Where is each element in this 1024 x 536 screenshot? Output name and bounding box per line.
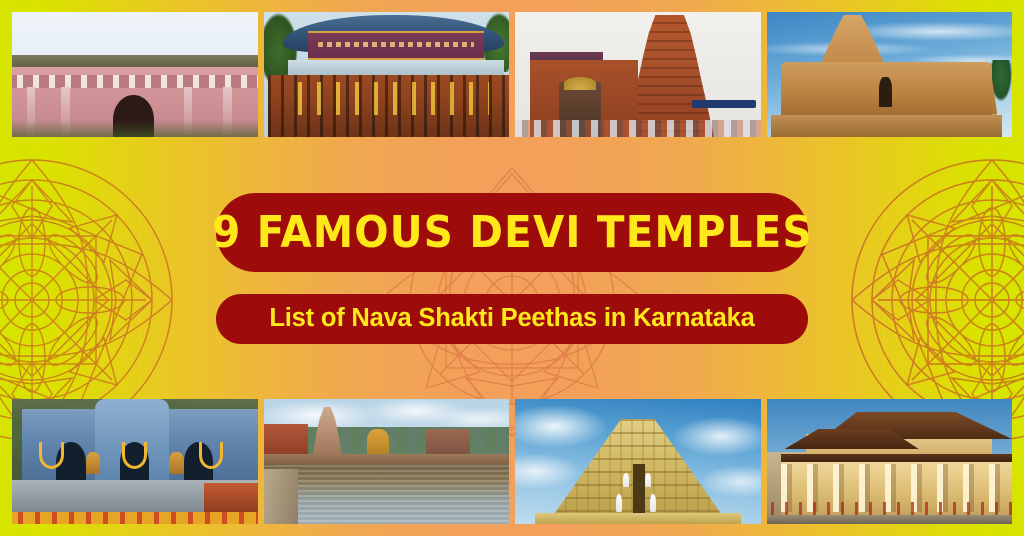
photo-terracotta-gopuram-temple (515, 12, 761, 137)
photo-blue-painted-temple-facade (12, 399, 258, 524)
photo-blue-canopy-temple-entrance (264, 12, 510, 137)
devi-temples-banner: 9 FAMOUS DEVI TEMPLES List of Nava Shakt… (0, 0, 1024, 536)
photo-golden-gopuram (515, 399, 761, 524)
photo-kerala-style-tiled-temple (767, 399, 1013, 524)
photo-pink-arcaded-temple-hall (12, 12, 258, 137)
top-photo-strip (0, 12, 1024, 137)
page-title: 9 FAMOUS DEVI TEMPLES (212, 211, 813, 255)
banner-subtitle-pill: List of Nava Shakti Peethas in Karnataka (216, 294, 808, 344)
photo-temple-tank-reflection (264, 399, 510, 524)
page-subtitle: List of Nava Shakti Peethas in Karnataka (269, 306, 754, 332)
banner-title-pill: 9 FAMOUS DEVI TEMPLES (216, 193, 808, 272)
bottom-photo-strip (0, 399, 1024, 524)
photo-ancient-stone-temple (767, 12, 1013, 137)
